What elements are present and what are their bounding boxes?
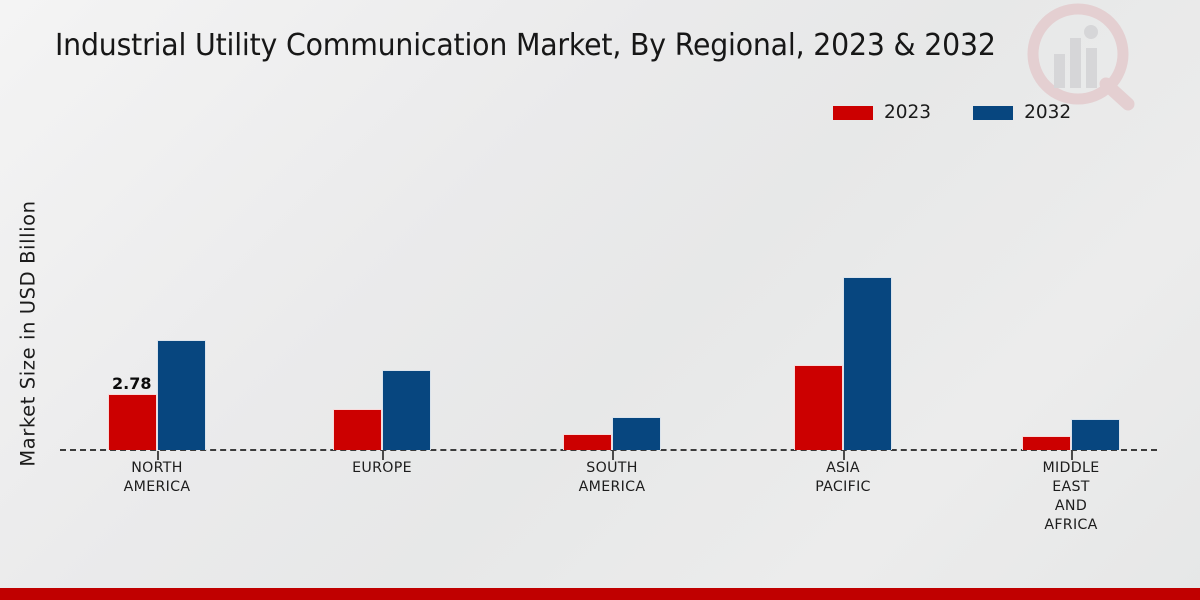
bar-2032-north-america[interactable] (157, 340, 206, 450)
bar-2023-north-america[interactable] (108, 394, 157, 450)
chart-container: Industrial Utility Communication Market,… (0, 0, 1200, 600)
category-label-line: PACIFIC (753, 478, 933, 497)
bar-2023-south-america[interactable] (563, 434, 612, 450)
category-label-line: NORTH (67, 459, 247, 478)
bar-2032-middle-east-and-africa[interactable] (1071, 419, 1120, 450)
bar-2023-europe[interactable] (333, 409, 382, 450)
category-label-line: EUROPE (292, 459, 472, 478)
category-label-asia-pacific: ASIA PACIFIC (753, 459, 933, 497)
category-label-line: EAST (981, 478, 1161, 497)
category-label-line: ASIA (753, 459, 933, 478)
footer-accent-bar (0, 588, 1200, 600)
bar-2032-asia-pacific[interactable] (843, 277, 892, 450)
bar-2023-asia-pacific[interactable] (794, 365, 843, 450)
category-label-europe: EUROPE (292, 459, 472, 478)
category-label-middle-east-and-africa: MIDDLE EAST AND AFRICA (981, 459, 1161, 535)
category-label-line: MIDDLE (981, 459, 1161, 478)
category-label-line: AFRICA (981, 516, 1161, 535)
category-label-line: SOUTH (522, 459, 702, 478)
bar-2023-middle-east-and-africa[interactable] (1022, 436, 1071, 450)
bar-2032-south-america[interactable] (612, 417, 661, 450)
bar-2032-europe[interactable] (382, 370, 431, 450)
category-label-line: AMERICA (67, 478, 247, 497)
category-label-north-america: NORTH AMERICA (67, 459, 247, 497)
category-label-line: AND (981, 497, 1161, 516)
value-label-north-america-2023: 2.78 (112, 374, 151, 393)
plot-area: 2.78 NORTH AMERICA EUROPE SOUTH AM (0, 0, 1200, 600)
category-label-line: AMERICA (522, 478, 702, 497)
category-label-south-america: SOUTH AMERICA (522, 459, 702, 497)
